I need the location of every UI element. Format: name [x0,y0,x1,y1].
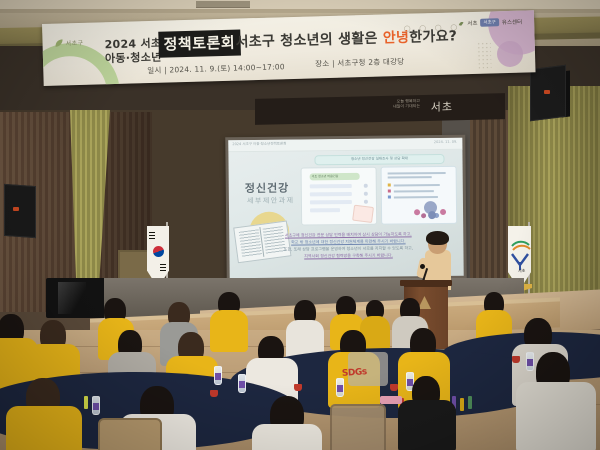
banner-headline-prefix: 서초구 청소년의 생활은 [235,30,383,50]
speaker-brand-badge-right [544,90,550,94]
ceiling-vent [196,1,250,8]
shirt-logo-text: SDGs [342,367,367,379]
paper-cup [294,384,302,391]
banner-circle-dots-decor: ○ ○ ○ ○ [404,22,461,33]
av-rack-reflection [58,282,86,314]
sponsor-logo-1: 서초 [467,19,477,27]
svg-text:서초: 서초 [518,267,526,273]
slide-header-bar: 2024 서초구 아동·청소년정책토론회 2024. 11. 09. [228,138,462,152]
slide-card-left: 서초 청소년 마음건강 [301,167,378,226]
seocho-emblem-icon: 서초 [509,238,532,278]
ceiling-strip [0,0,600,9]
slide-card-chip-text: 서초 청소년 마음건강 [312,174,339,178]
slide-date: 2024. 11. 09. [434,140,457,144]
chair [98,418,162,450]
paper-cup [210,390,218,397]
slide-section-header: 청소년 정신건강 실태조사 및 상담 확대 [314,154,444,165]
slide-body-line-1: 서초구에 정신건강 전문 상담 인력을 배치하여 상시 상담이 가능하도록 하고… [285,231,412,237]
water-bottle [336,378,344,397]
banner-organizer-logo: 서초구 [54,34,100,49]
sponsor-logo-2: 유스센터 [502,18,522,27]
water-bottle [92,396,100,415]
leaf-icon [54,38,63,47]
slide-section-header-text: 청소년 정신건강 실태조사 및 상담 확대 [315,156,443,162]
water-bottle [238,374,246,393]
sticky-note-pad [380,396,402,404]
slide-subtitle: 세부제안과제 [247,196,295,206]
slide-network-diagram [410,197,450,219]
slide-body-line-3: 또한, 또래 상담 프로그램을 운영하여 청소년이 서로를 지지할 수 있도록 … [284,245,413,251]
slide-card-right [381,166,458,225]
slide-title: 정신건강 [245,180,290,196]
banner-line-2: 아동·청소년 [105,49,162,67]
banner-logo-text: 서초구 [65,37,83,47]
sponsor-logo-pill: 서초구 [480,18,499,27]
banner-purple-small-decor [497,41,524,68]
slide-card-book-icon [352,205,374,223]
wall-speaker-left-icon [4,184,36,238]
banner-datetime: 일시 | 2024. 11. 9.(토) 14:00~17:00 [147,61,285,76]
taegeuk-symbol-icon [153,246,164,257]
paper-cup [512,356,520,363]
presenter-hair [426,231,449,245]
speaker-brand-badge-left [13,207,19,211]
marker-pen [460,398,464,411]
slide-body-line-4: 지역사회 정신건강 협력망을 구축해 주시기 바랍니다. [304,253,393,259]
slide-header-logo: 2024 서초구 아동·청소년정책토론회 [232,142,286,148]
paper-cup [390,384,398,391]
slide-body-text: 서초구에 정신건강 전문 상담 인력을 배치하여 상시 상담이 가능하도록 하고… [263,230,433,260]
water-bottle [526,352,534,371]
conference-photo: 오늘 행복하고 내일이 기대되는 서초 서초구 2024 서초구 아동·청소년 … [0,0,600,450]
wall-sign-main-text: 서초 [431,98,453,115]
marker-pen [468,396,472,409]
banner-event-type-tag: 정책토론회 [158,29,240,57]
chair [330,404,386,450]
bird-icon [458,20,464,26]
slide-body-line-2: 학교 밖 청소년에 대한 정신건강 지원체계를 마련해 주시기 바랍니다. [291,238,406,244]
marker-pen [84,396,88,409]
banner-dot-pattern-decor [477,41,492,69]
wall-sign-subtext: 오늘 행복하고 내일이 기대되는 [393,98,420,109]
banner-venue: 장소 | 서초구청 2층 대강당 [315,56,404,69]
microphone-icon [420,264,425,269]
water-bottle [214,366,222,385]
